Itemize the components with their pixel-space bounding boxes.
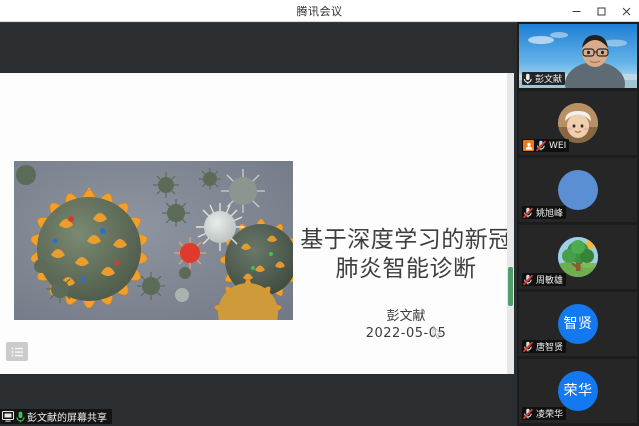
shared-slide[interactable]: 基于深度学习的新冠 肺炎智能诊断 彭文献 2022-05-05	[0, 73, 514, 374]
participant-name: 姚旭峰	[536, 206, 563, 219]
maximize-icon	[596, 6, 607, 17]
participant-name: 周敏雄	[536, 273, 563, 286]
slide-canvas: 基于深度学习的新冠 肺炎智能诊断 彭文献 2022-05-05	[0, 73, 514, 374]
avatar-initials: 荣华	[558, 371, 598, 411]
microphone-muted-icon	[523, 207, 534, 219]
share-status-label: 彭文献的屏幕共享	[27, 409, 107, 424]
share-status-chip: 彭文献的屏幕共享	[0, 409, 112, 424]
participant-name: 唐智贤	[536, 340, 563, 353]
avatar-initials-text: 荣华	[564, 384, 593, 398]
participant-tile[interactable]: 彭文献	[519, 24, 637, 88]
participant-name: WEI	[549, 141, 566, 151]
slide-title: 基于深度学习的新冠 肺炎智能诊断	[296, 226, 514, 284]
avatar-image	[558, 237, 598, 277]
avatar-placeholder	[558, 170, 598, 210]
host-person-icon	[523, 140, 534, 151]
tencent-meeting-window: 腾讯会议	[0, 0, 639, 426]
slide-outline-toggle-button[interactable]	[6, 342, 28, 361]
share-top-letterbox	[0, 22, 517, 73]
microphone-icon	[16, 411, 25, 423]
participant-tile[interactable]: WEI	[519, 91, 637, 155]
screen-share-icon	[2, 411, 14, 422]
microphone-muted-icon	[523, 408, 534, 420]
participant-tile[interactable]: 智贤 唐智贤	[519, 292, 637, 356]
list-menu-icon	[11, 347, 24, 357]
participants-panel[interactable]: 彭文献 WEI	[517, 22, 639, 426]
participant-name-chip: WEI	[522, 139, 569, 152]
microphone-muted-icon	[536, 140, 547, 152]
participant-name-chip: 彭文献	[522, 72, 565, 85]
slide-scrollbar-track[interactable]	[507, 73, 514, 374]
close-button[interactable]	[614, 0, 639, 22]
slide-author: 彭文献	[296, 305, 514, 324]
microphone-icon	[523, 73, 533, 85]
avatar-initials-text: 智贤	[564, 317, 593, 331]
screen-share-region[interactable]: 基于深度学习的新冠 肺炎智能诊断 彭文献 2022-05-05	[0, 22, 517, 426]
title-bar: 腾讯会议	[0, 0, 639, 22]
participant-name-chip: 姚旭峰	[522, 206, 566, 219]
avatar-image	[558, 103, 598, 143]
participant-tile[interactable]: 周敏雄	[519, 225, 637, 289]
coronavirus-illustration-icon	[14, 161, 293, 320]
avatar-initials: 智贤	[558, 304, 598, 344]
coronavirus-image	[14, 161, 293, 320]
participant-tile[interactable]: 姚旭峰	[519, 158, 637, 222]
maximize-button[interactable]	[589, 0, 614, 22]
participant-tile[interactable]: 荣华 凌荣华	[519, 359, 637, 423]
microphone-muted-icon	[523, 274, 534, 286]
window-controls	[564, 0, 639, 22]
minimize-icon	[571, 6, 582, 17]
close-icon	[621, 6, 632, 17]
participant-name: 凌荣华	[536, 407, 563, 420]
window-title: 腾讯会议	[297, 3, 343, 19]
mouse-cursor-icon	[432, 326, 443, 340]
minimize-button[interactable]	[564, 0, 589, 22]
microphone-muted-icon	[523, 341, 534, 353]
participant-name-chip: 凌荣华	[522, 407, 566, 420]
participant-name: 彭文献	[535, 72, 562, 85]
slide-scrollbar-thumb[interactable]	[508, 267, 513, 306]
participant-name-chip: 唐智贤	[522, 340, 566, 353]
slide-date: 2022-05-05	[296, 326, 514, 341]
participant-name-chip: 周敏雄	[522, 273, 566, 286]
